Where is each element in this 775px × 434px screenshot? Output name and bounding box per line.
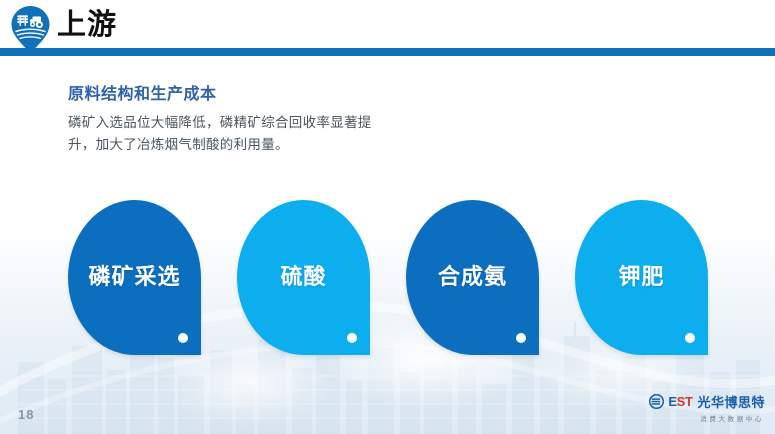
brand-letters-st: ST	[677, 394, 693, 409]
category-drop-1[interactable]: 磷矿采选	[68, 200, 201, 355]
intro-text-block: 原料结构和生产成本 磷矿入选品位大幅降低，磷精矿综合回收率显著提升，加大了冶炼烟…	[68, 84, 498, 156]
category-drop-3[interactable]: 合成氨	[406, 200, 539, 355]
brand-logo-top-row: EST 光华博思特	[648, 392, 765, 411]
category-drop-2-dot	[347, 333, 357, 343]
category-drop-2[interactable]: 硫酸	[237, 200, 370, 355]
category-drop-1-dot	[178, 333, 188, 343]
category-drop-3-dot	[516, 333, 526, 343]
best-logo-icon	[648, 394, 665, 409]
category-drop-3-label: 合成氨	[406, 264, 539, 290]
page-number: 18	[18, 407, 34, 422]
location-pin-farm-icon	[8, 4, 53, 54]
category-drop-4[interactable]: 钾肥	[575, 200, 708, 355]
upstream-category-row: 磷矿采选 硫酸 合成氨 钾肥	[0, 200, 775, 360]
category-drop-4-label: 钾肥	[575, 264, 708, 290]
section-heading: 原料结构和生产成本	[68, 84, 498, 106]
brand-chinese-name: 光华博思特	[697, 392, 765, 411]
brand-logo: EST 光华博思特 消费大数据中心	[648, 390, 765, 424]
brand-subtitle: 消费大数据中心	[700, 413, 764, 423]
section-body-text: 磷矿入选品位大幅降低，磷精矿综合回收率显著提升，加大了冶炼烟气制酸的利用量。	[68, 112, 398, 156]
category-drop-1-label: 磷矿采选	[68, 264, 201, 290]
slide-root: 上游 原料结构和生产成本 磷矿入选品位大幅降低，磷精矿综合回收率显著提升，加大了…	[0, 0, 775, 434]
header-divider-bar	[0, 48, 775, 56]
brand-letter-e: E	[668, 394, 676, 409]
category-drop-4-dot	[685, 333, 695, 343]
category-drop-2-label: 硫酸	[237, 264, 370, 290]
brand-best-wordmark: EST	[668, 394, 692, 409]
page-title: 上游	[57, 9, 117, 41]
